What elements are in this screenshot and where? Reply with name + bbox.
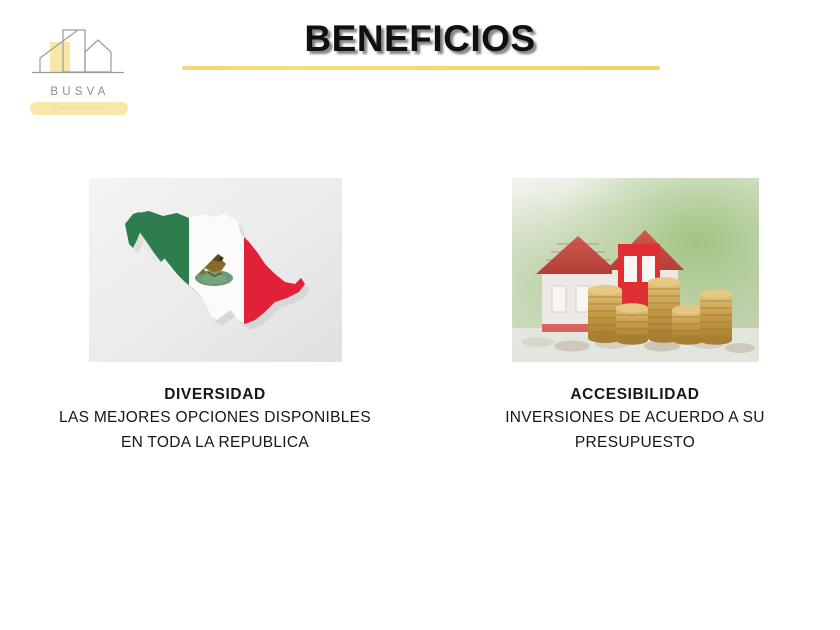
title-underline-rule <box>182 66 660 70</box>
logo-wordmark: BUSVA <box>26 86 130 98</box>
slide-title: BENEFICIOS <box>0 18 840 60</box>
benefit-caption-diversidad: DIVERSIDAD LAS MEJORES OPCIONES DISPONIB… <box>0 384 430 455</box>
slide-canvas: BUSVA inmobiliaria BENEFICIOS <box>0 0 840 630</box>
mexico-map-flag-image <box>89 178 342 362</box>
benefit-title: DIVERSIDAD <box>0 384 430 405</box>
benefit-title: ACCESIBILIDAD <box>430 384 840 405</box>
benefit-card-diversidad: DIVERSIDAD LAS MEJORES OPCIONES DISPONIB… <box>0 178 430 455</box>
benefit-description: LAS MEJORES OPCIONES DISPONIBLES EN TODA… <box>0 405 430 455</box>
logo-tagline: inmobiliaria <box>30 103 128 115</box>
benefit-description: INVERSIONES DE ACUERDO A SU PRESUPUESTO <box>430 405 840 455</box>
benefit-caption-accesibilidad: ACCESIBILIDAD INVERSIONES DE ACUERDO A S… <box>430 384 840 455</box>
benefit-card-accesibilidad: ACCESIBILIDAD INVERSIONES DE ACUERDO A S… <box>430 178 840 455</box>
house-with-coin-stacks-image <box>512 178 759 362</box>
